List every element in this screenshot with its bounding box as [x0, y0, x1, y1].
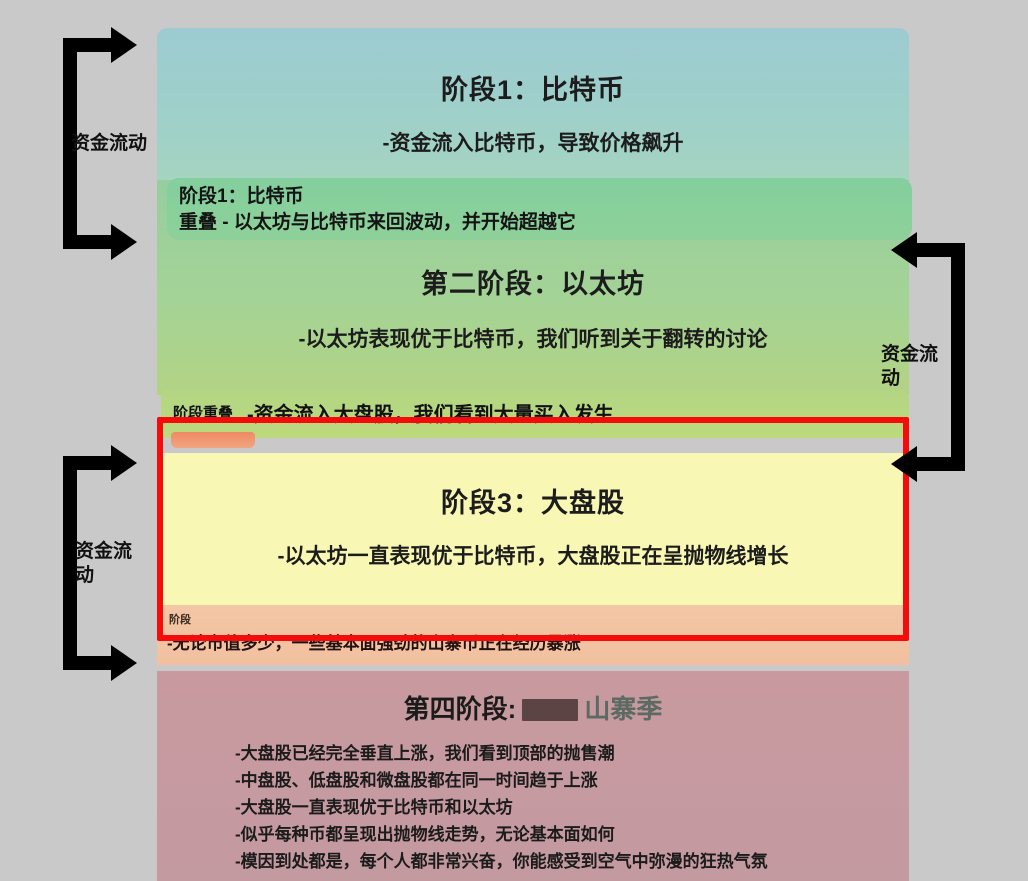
overlap2-tab-marker: [171, 432, 255, 448]
overlap-band-bitcoin-ethereum: 阶段1：比特币 重叠 - 以太坊与比特币来回波动，并开始超越它: [167, 178, 912, 240]
arrow-label: 资金流动: [71, 132, 171, 156]
stage3-subtitle: -以太坊一直表现优于比特币，大盘股正在呈抛物线增长: [157, 520, 909, 570]
overlap2-label: 阶段重叠: [173, 402, 233, 423]
stage4-title-suffix: 山寨季: [584, 694, 662, 724]
arrow-head-right-top-icon: [111, 27, 137, 63]
overlap1-line1: 阶段1：比特币: [179, 184, 912, 210]
stage4-title: 第四阶段:山寨季: [157, 671, 909, 726]
stage1-title: 阶段1：比特币: [157, 28, 909, 107]
bracket-top-bar: [63, 456, 115, 470]
stage4-title-prefix: 第四阶段:: [404, 694, 517, 724]
overlap1-line2: 重叠 - 以太坊与比特币来回波动，并开始超越它: [179, 210, 912, 236]
stage4-bullet-list: -大盘股已经完全垂直上涨，我们看到顶部的抛售潮 -中盘股、低盘股和微盘股都在同一…: [157, 740, 909, 875]
stage2-subtitle: -以太坊表现优于比特币，我们听到关于翻转的讨论: [157, 301, 909, 353]
stage3-title: 阶段3：大盘股: [157, 453, 909, 520]
money-flow-arrow-left-top: 资金流动: [63, 38, 141, 249]
bracket-top-bar: [913, 243, 965, 257]
bracket-bottom-bar: [63, 235, 115, 249]
overlap3-label: 阶段: [169, 611, 191, 627]
stage-panel-bitcoin: 阶段1：比特币 -资金流入比特币，导致价格飙升: [157, 28, 909, 180]
overlap3-text: -无论市值多少，一些基本面强劲的山寨币正在经历暴涨: [167, 629, 581, 654]
bracket-vertical-bar: [951, 243, 965, 471]
redacted-block: [522, 699, 578, 721]
arrow-head-right-bottom-icon: [111, 645, 137, 681]
overlap-band-ethereum-largecap: 阶段重叠 -资金流入大盘股，我们看到大量买入发生: [161, 390, 909, 438]
overlap2-text: -资金流入大盘股，我们看到大量买入发生: [247, 398, 614, 427]
bracket-top-bar: [63, 38, 115, 52]
money-flow-arrow-left-bottom: 资金流动: [63, 456, 141, 670]
stage-stack: 阶段1：比特币 -资金流入比特币，导致价格飙升 第二阶段：以太坊 -以太坊表现优…: [157, 28, 909, 853]
stage-panel-large-caps: 阶段3：大盘股 -以太坊一直表现优于比特币，大盘股正在呈抛物线增长: [157, 453, 909, 605]
list-item: -模因到处都是，每个人都非常兴奋，你能感受到空气中弥漫的狂热气氛: [235, 848, 909, 875]
list-item: -似乎每种币都呈现出抛物线走势，无论基本面如何: [235, 821, 909, 848]
arrow-head-right-top-icon: [111, 445, 137, 481]
arrow-label: 资金流动: [75, 540, 147, 588]
money-flow-arrow-right: 资金流动: [887, 243, 965, 471]
stage-panel-altcoin-season: 第四阶段:山寨季 -大盘股已经完全垂直上涨，我们看到顶部的抛售潮 -中盘股、低盘…: [157, 671, 909, 881]
overlap-band-largecap-altcoin: 阶段 -无论市值多少，一些基本面强劲的山寨币正在经历暴涨: [157, 605, 909, 665]
stage1-subtitle: -资金流入比特币，导致价格飙升: [157, 107, 909, 157]
bracket-bottom-bar: [63, 656, 115, 670]
list-item: -中盘股、低盘股和微盘股都在同一时间趋于上涨: [235, 767, 909, 794]
bracket-bottom-bar: [913, 457, 965, 471]
list-item: -大盘股一直表现优于比特币和以太坊: [235, 794, 909, 821]
arrow-head-left-top-icon: [891, 232, 917, 268]
arrow-head-right-bottom-icon: [111, 224, 137, 260]
arrow-label: 资金流动: [881, 343, 951, 391]
arrow-head-left-bottom-icon: [891, 446, 917, 482]
list-item: -大盘股已经完全垂直上涨，我们看到顶部的抛售潮: [235, 740, 909, 767]
